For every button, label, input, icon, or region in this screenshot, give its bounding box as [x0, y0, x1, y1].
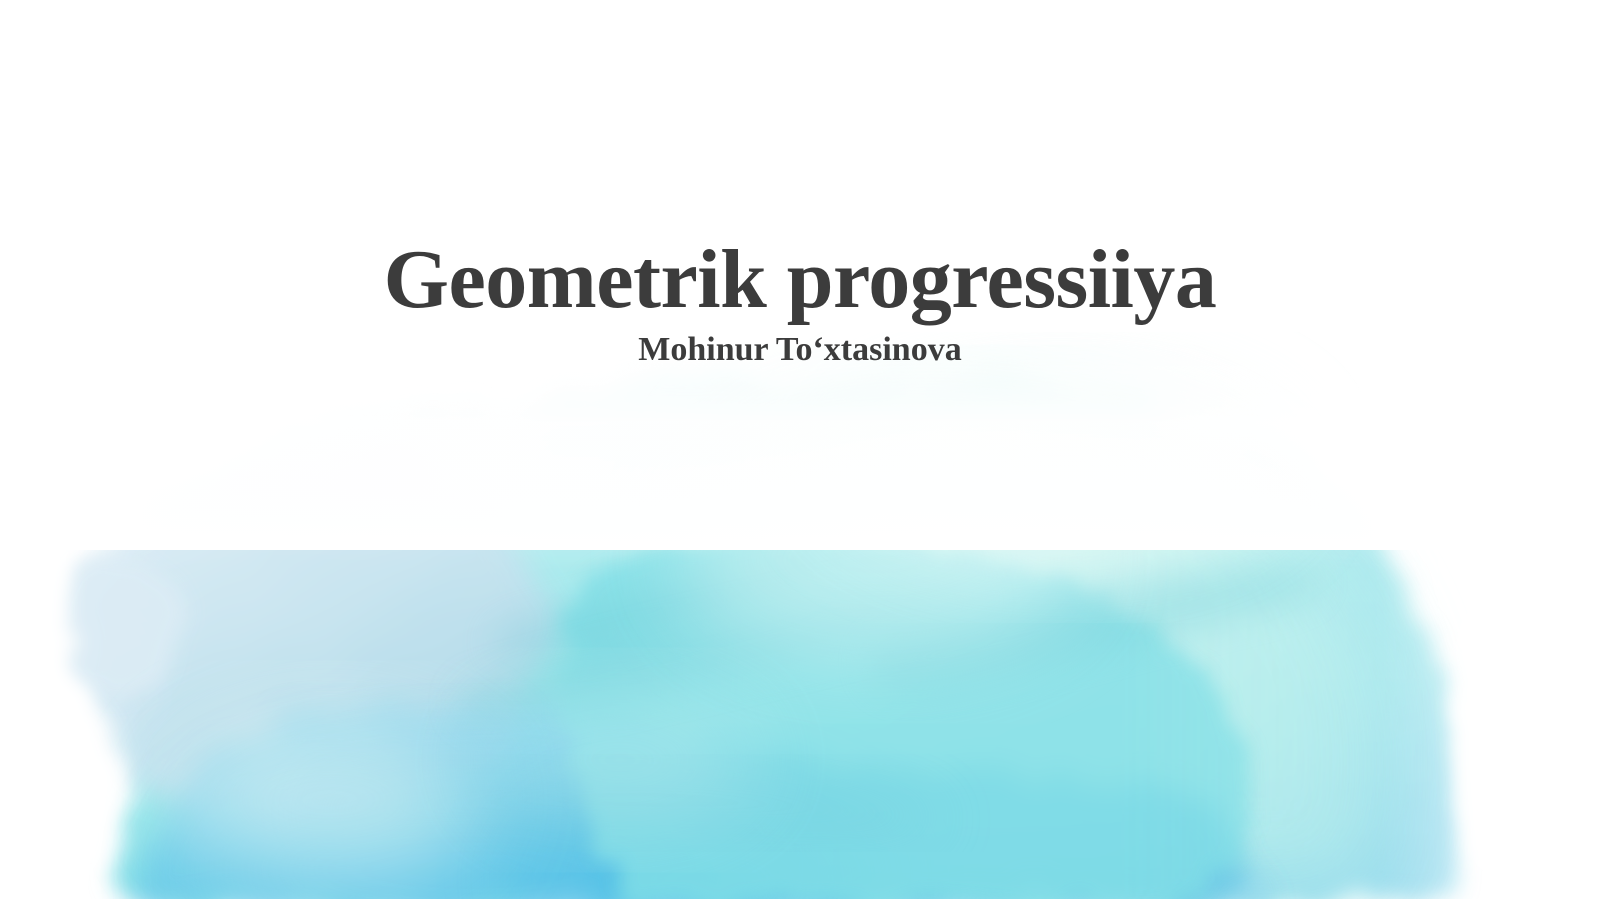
watercolor-svg: [0, 0, 1600, 899]
wash-bottom-core-blob: [190, 760, 750, 899]
title-slide: Geometrik progressiiya Mohinur Toʻxtasin…: [0, 0, 1600, 899]
wash-highlight-mid: [680, 464, 1080, 656]
wash-bottom-core-blob-2: [520, 790, 880, 899]
page-subtitle-author: Mohinur Toʻxtasinova: [0, 333, 1600, 367]
watercolor-wash-decoration: [0, 0, 1600, 899]
wash-group-mint: [675, 395, 1400, 899]
wash-group-bottom: [150, 698, 1262, 899]
wash-right-white-guard: [1455, 380, 1600, 899]
wash-group-edge-guards: [0, 380, 1600, 899]
wash-streak-diagonal-2: [869, 567, 1320, 690]
wash-streak-diagonal-1: [463, 587, 982, 718]
wash-highlight-lowleft: [170, 718, 490, 882]
wash-core-teal: [561, 535, 1250, 899]
wash-group-left-notch: [47, 556, 180, 700]
wash-group-left: [75, 460, 548, 821]
wash-group-base: [109, 376, 1460, 899]
wash-mint-halo: [675, 395, 1400, 899]
wash-highlight-center: [480, 694, 760, 826]
wash-group-core: [561, 535, 1250, 899]
wash-left-notch: [47, 556, 180, 700]
wash-highlight-upper: [830, 380, 1290, 560]
wash-left-lavender-lobe: [75, 460, 548, 821]
wash-streak-horizontal: [306, 772, 947, 833]
page-title: Geometrik progressiiya: [0, 238, 1600, 322]
wash-streak-diagonal-3: [493, 564, 818, 659]
wash-group-bottom-core: [190, 760, 880, 899]
wash-main-body: [109, 376, 1460, 899]
wash-group-streaks: [306, 564, 1321, 834]
wash-bottom-deep-blue: [150, 698, 1262, 899]
wash-left-white-guard: [0, 380, 120, 899]
wash-group-highlights: [170, 380, 1290, 882]
